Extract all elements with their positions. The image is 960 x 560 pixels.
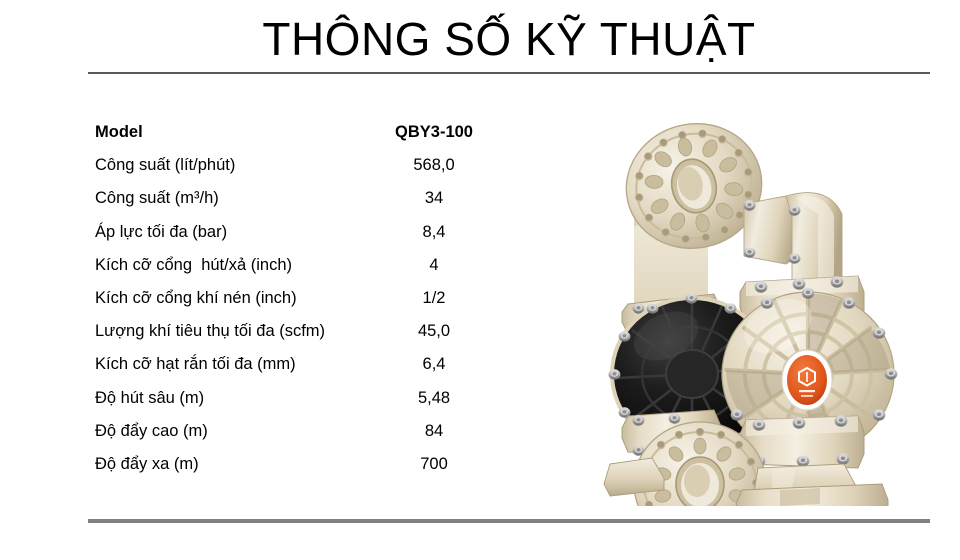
table-header-value: QBY3-100 xyxy=(395,124,515,141)
spec-label: Độ hút sâu (m) xyxy=(95,390,395,407)
spec-label: Công suất (m³/h) xyxy=(95,190,395,207)
title-divider-rule xyxy=(88,72,930,74)
footer-divider-rule xyxy=(88,519,930,523)
page-title-text: THÔNG SỐ KỸ THUẬT xyxy=(262,16,755,62)
table-row: Công suất (m³/h) 34 xyxy=(95,190,515,223)
table-row: Độ đẩy xa (m) 700 xyxy=(95,456,515,489)
table-row: Công suất (lít/phút) 568,0 xyxy=(95,157,515,190)
table-row: Áp lực tối đa (bar) 8,4 xyxy=(95,224,515,257)
spec-label: Áp lực tối đa (bar) xyxy=(95,224,395,241)
spec-label: Kích cỡ hạt rắn tối đa (mm) xyxy=(95,356,395,373)
spec-value: 700 xyxy=(395,456,515,473)
spec-label: Kích cỡ cổng hút/xả (inch) xyxy=(95,257,395,274)
table-header-row: Model QBY3-100 xyxy=(95,124,515,157)
spec-label: Độ đẩy cao (m) xyxy=(95,423,395,440)
brand-logo-badge xyxy=(782,350,832,410)
spec-label: Độ đẩy xa (m) xyxy=(95,456,395,473)
table-row: Độ đẩy cao (m) 84 xyxy=(95,423,515,456)
table-header-label: Model xyxy=(95,124,395,141)
table-row: Kích cỡ cổng khí nén (inch) 1/2 xyxy=(95,290,515,323)
spec-value: 6,4 xyxy=(395,356,515,373)
table-row: Kích cỡ cổng hút/xả (inch) 4 xyxy=(95,257,515,290)
table-row: Độ hút sâu (m) 5,48 xyxy=(95,390,515,423)
table-row: Lượng khí tiêu thụ tối đa (scfm) 45,0 xyxy=(95,323,515,356)
specifications-table: Model QBY3-100 Công suất (lít/phút) 568,… xyxy=(95,124,515,489)
spec-value: 8,4 xyxy=(395,224,515,241)
spec-label: Lượng khí tiêu thụ tối đa (scfm) xyxy=(95,323,395,340)
slide-canvas: THÔNG SỐ KỸ THUẬT Model QBY3-100 Công su… xyxy=(0,0,960,560)
spec-value: 34 xyxy=(395,190,515,207)
table-row: Kích cỡ hạt rắn tối đa (mm) 6,4 xyxy=(95,356,515,389)
spec-value: 4 xyxy=(395,257,515,274)
spec-value: 45,0 xyxy=(395,323,515,340)
spec-label: Kích cỡ cổng khí nén (inch) xyxy=(95,290,395,307)
spec-value: 84 xyxy=(395,423,515,440)
spec-value: 568,0 xyxy=(395,157,515,174)
spec-value: 1/2 xyxy=(395,290,515,307)
spec-label: Công suất (lít/phút) xyxy=(95,157,395,174)
spec-value: 5,48 xyxy=(395,390,515,407)
page-title: THÔNG SỐ KỸ THUẬT xyxy=(88,8,930,70)
product-image-diaphragm-pump xyxy=(596,86,956,506)
